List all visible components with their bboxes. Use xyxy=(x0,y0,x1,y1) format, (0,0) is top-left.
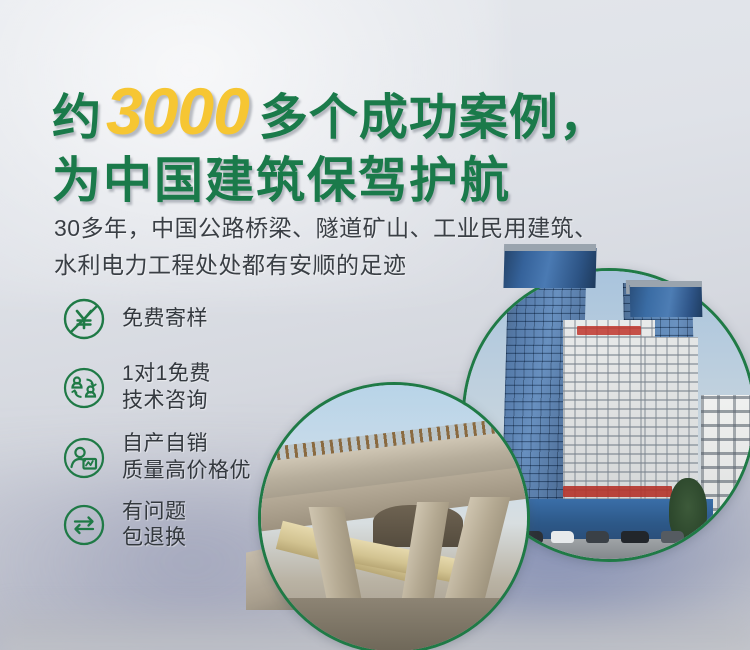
feature-label: 有问题 包退换 xyxy=(122,499,187,553)
feature-line-1: 免费寄样 xyxy=(122,307,208,330)
feature-line-1: 自产自销 xyxy=(122,432,208,455)
construction-ground xyxy=(261,598,527,650)
feature-item-free-sample: 免费寄样 xyxy=(60,295,251,343)
car xyxy=(586,531,609,543)
headline-prefix: 约 xyxy=(52,94,102,143)
feature-item-exchange: 有问题 包退换 xyxy=(60,499,251,553)
subtitle: 30多年，中国公路桥梁、隧道矿山、工业民用建筑、 水利电力工程处处都有安顺的足迹 xyxy=(54,210,598,285)
building-tower2-overflow-cap xyxy=(630,281,702,287)
headline-line-2: 为中国建筑保驾护航 xyxy=(52,157,609,206)
feature-item-consult: 1对1免费 技术咨询 xyxy=(60,361,251,415)
feature-line-1: 1对1免费 xyxy=(122,362,211,385)
bridge-scene xyxy=(261,385,527,650)
self-produce-sell-icon xyxy=(60,434,108,482)
feature-item-self-produce: 自产自销 质量高价格优 xyxy=(60,431,251,485)
car xyxy=(661,531,684,543)
feature-list: 免费寄样 1对1免费 技术咨询 xyxy=(60,295,251,566)
bridge-photo xyxy=(258,382,530,650)
building-top-signage xyxy=(577,326,640,335)
building-tower2-overflow xyxy=(630,285,703,317)
feature-label: 免费寄样 xyxy=(122,306,208,333)
free-sample-icon xyxy=(60,295,108,343)
headline-suffix: 多个成功案例， xyxy=(259,94,609,143)
car xyxy=(551,531,574,543)
feature-line-2: 质量高价格优 xyxy=(122,458,251,485)
headline: 约 3000 多个成功案例， 为中国建筑保驾护航 xyxy=(52,78,609,206)
headline-line-2-text: 为中国建筑保驾护航 xyxy=(52,157,511,206)
subtitle-line-1: 30多年，中国公路桥梁、隧道矿山、工业民用建筑、 xyxy=(54,210,598,247)
subtitle-line-2: 水利电力工程处处都有安顺的足迹 xyxy=(54,247,598,284)
feature-label: 1对1免费 技术咨询 xyxy=(122,361,211,415)
car xyxy=(621,531,650,543)
headline-line-1: 约 3000 多个成功案例， xyxy=(52,78,609,144)
promo-banner: 约 3000 多个成功案例， 为中国建筑保驾护航 30多年，中国公路桥梁、隧道矿… xyxy=(0,0,750,650)
exchange-return-icon xyxy=(60,501,108,549)
feature-line-2: 技术咨询 xyxy=(122,388,211,415)
building-entrance-signage xyxy=(563,486,672,498)
headline-number: 3000 xyxy=(106,78,249,144)
feature-line-1: 有问题 xyxy=(122,500,187,523)
one-on-one-consult-icon xyxy=(60,364,108,412)
feature-label: 自产自销 质量高价格优 xyxy=(122,431,251,485)
feature-line-2: 包退换 xyxy=(122,525,187,552)
